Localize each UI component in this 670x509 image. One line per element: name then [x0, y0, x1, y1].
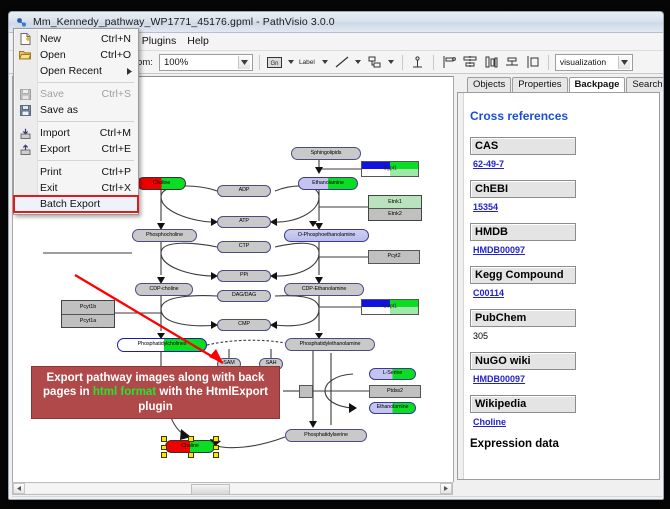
chevron-down-icon: [618, 56, 630, 69]
side-panel-tabs: Objects Properties Backpage Search Legen…: [457, 76, 660, 92]
gene-box-etnk[interactable]: Etnk1 Etnk2: [368, 195, 422, 221]
menu-item-import[interactable]: Import Ctrl+M: [14, 125, 138, 141]
export-icon: [14, 144, 36, 155]
gene-box-cept1-label: Cept1: [362, 304, 418, 309]
xref-link-chebi[interactable]: 15354: [473, 202, 498, 212]
align-middle-icon[interactable]: [482, 53, 500, 71]
node-atp[interactable]: ATP: [217, 216, 271, 228]
annotation-callout: Export pathway images along with back pa…: [31, 366, 280, 419]
menu-item-new-shortcut: Ctrl+N: [101, 33, 138, 45]
side-panel: Objects Properties Backpage Search Legen…: [457, 76, 660, 480]
svg-text:Gn: Gn: [271, 61, 279, 67]
gene-box-pcyt2[interactable]: Pcyt2: [368, 250, 420, 264]
tab-backpage[interactable]: Backpage: [569, 77, 626, 93]
gene-box-pemt[interactable]: [299, 385, 313, 398]
xref-source-pubchem: PubChem: [470, 309, 576, 327]
node-phosphatidylserine[interactable]: Phosphatidylserine: [285, 429, 367, 442]
menu-separator: [38, 82, 134, 83]
menu-item-open-label: Open: [36, 49, 100, 61]
backpage-scrollbar[interactable]: [458, 93, 464, 479]
xref-link-wikipedia[interactable]: Choline: [473, 417, 506, 427]
menu-item-exit-label: Exit: [36, 182, 102, 194]
selection-handle[interactable]: [161, 436, 166, 441]
xref-source-kegg: Kegg Compound: [470, 266, 576, 284]
order-icon[interactable]: [524, 53, 542, 71]
scroll-left-icon[interactable]: [13, 483, 25, 494]
menu-separator: [38, 121, 134, 122]
menu-item-open-recent[interactable]: Open Recent: [14, 63, 138, 79]
xref-value-nugo: HMDB00097: [473, 374, 649, 384]
callout-text-highlight: html format: [93, 386, 156, 398]
selection-handle[interactable]: [213, 452, 218, 457]
line-tool-icon[interactable]: [333, 53, 351, 71]
save-as-icon: [14, 105, 36, 116]
label-tool-text[interactable]: Label: [299, 59, 315, 66]
menu-item-open[interactable]: Open Ctrl+O: [14, 47, 138, 63]
pathvisio-icon: [15, 16, 28, 29]
node-phosphocholine[interactable]: Phosphocholine: [132, 229, 197, 242]
stack-icon[interactable]: [503, 53, 521, 71]
selection-handle[interactable]: [188, 436, 193, 441]
menu-item-new-label: New: [36, 33, 101, 45]
desktop-background: Mm_Kennedy_pathway_WP1771_45176.gpml - P…: [0, 0, 670, 509]
menu-item-exit-shortcut: Ctrl+X: [102, 182, 138, 194]
menu-item-save-as-label: Save as: [36, 104, 131, 116]
node-choline-bottom-selected[interactable]: Choline: [165, 440, 215, 453]
node-cdp-ethanolamine[interactable]: CDP-Ethanolamine: [284, 283, 364, 296]
menu-item-import-label: Import: [36, 127, 100, 139]
menu-item-export[interactable]: Export Ctrl+E: [14, 141, 138, 157]
menu-item-exit[interactable]: Exit Ctrl+X: [14, 180, 138, 196]
menu-item-import-shortcut: Ctrl+M: [100, 127, 138, 139]
chevron-down-icon: [238, 56, 250, 69]
menu-item-new[interactable]: New Ctrl+N: [14, 31, 138, 47]
xref-link-hmdb[interactable]: HMDB00097: [473, 245, 525, 255]
xref-value-hmdb: HMDB00097: [473, 245, 649, 255]
shape-tool-icon[interactable]: [366, 53, 384, 71]
gene-box-sgpl1-label: Sgpl1: [362, 166, 418, 171]
gene-box-etnk2-label: Etnk2: [369, 209, 421, 221]
xref-link-nugo[interactable]: HMDB00097: [473, 374, 525, 384]
node-sphingolipids[interactable]: Sphingolipids: [291, 147, 361, 160]
selection-handle[interactable]: [213, 445, 218, 450]
node-o-phosphoethanolamine[interactable]: O-Phosphoethanolamine: [284, 229, 369, 242]
menu-item-print[interactable]: Print Ctrl+P: [14, 164, 138, 180]
xref-source-nugo: NuGO wiki: [470, 352, 576, 370]
zoom-value: 100%: [164, 57, 188, 68]
selection-handle[interactable]: [213, 436, 218, 441]
datanode-dropdown-icon[interactable]: [287, 53, 296, 71]
menu-item-save-label: Save: [36, 88, 102, 100]
xref-link-cas[interactable]: 62-49-7: [473, 159, 504, 169]
xref-value-pubchem: 305: [473, 331, 649, 341]
menu-help[interactable]: Help: [182, 34, 214, 49]
status-area: | Gene database: ...m_Derby_20120602.bri…: [9, 482, 663, 500]
anchor-tool-icon[interactable]: [409, 53, 427, 71]
node-l-serine[interactable]: L-Serine: [369, 368, 416, 380]
gene-box-sgpl1[interactable]: Sgpl1: [361, 161, 419, 177]
folder-open-icon: [14, 50, 36, 60]
new-file-icon: [14, 33, 36, 45]
menu-item-open-recent-label: Open Recent: [36, 65, 138, 77]
selection-handle[interactable]: [161, 445, 166, 450]
xref-value-wikipedia: Choline: [473, 417, 649, 427]
save-icon: [14, 89, 36, 100]
menu-item-export-label: Export: [36, 143, 102, 155]
application-window: Mm_Kennedy_pathway_WP1771_45176.gpml - P…: [8, 11, 664, 500]
gene-box-cept1[interactable]: Cept1: [361, 299, 419, 315]
xref-source-cas: CAS: [470, 137, 576, 155]
gene-box-ptdss2[interactable]: Ptdss2: [369, 385, 421, 398]
expression-data-heading: Expression data: [470, 438, 649, 450]
selection-handle[interactable]: [161, 452, 166, 457]
scroll-right-icon[interactable]: [440, 483, 452, 494]
shape-dropdown-icon[interactable]: [387, 53, 396, 71]
node-ethanolamine-low[interactable]: Ethanolamine: [369, 402, 416, 414]
xref-source-chebi: ChEBI: [470, 180, 576, 198]
xref-value-kegg: C00114: [473, 288, 649, 298]
node-choline-top[interactable]: Choline: [137, 177, 186, 190]
cross-references-heading: Cross references: [470, 109, 649, 123]
file-dropdown-menu[interactable]: New Ctrl+N Open Ctrl+O Open Recent Save …: [13, 28, 139, 215]
xref-value-chebi: 15354: [473, 202, 649, 212]
visualization-combo[interactable]: visualization: [555, 54, 633, 71]
node-phosphatidylethanolamine[interactable]: Phosphatidylethanolamine: [285, 338, 375, 351]
status-bar: | Gene database: ...m_Derby_20120602.bri…: [12, 496, 662, 500]
menu-item-save: Save Ctrl+S: [14, 86, 138, 102]
import-icon: [14, 128, 36, 139]
tab-properties[interactable]: Properties: [512, 77, 567, 92]
xref-source-hmdb: HMDB: [470, 223, 576, 241]
menu-separator: [38, 160, 134, 161]
menu-item-save-as[interactable]: Save as: [14, 102, 138, 118]
menu-item-export-shortcut: Ctrl+E: [102, 143, 138, 155]
align-center-icon[interactable]: [461, 53, 479, 71]
menu-item-print-shortcut: Ctrl+P: [102, 166, 138, 178]
datanode-tool-icon[interactable]: Gn: [266, 53, 284, 71]
node-adp[interactable]: ADP: [217, 185, 271, 197]
scroll-thumb[interactable]: [191, 484, 230, 495]
menu-item-batch-export[interactable]: Batch Export: [14, 196, 138, 212]
window-title: Mm_Kennedy_pathway_WP1771_45176.gpml - P…: [33, 16, 335, 28]
canvas-horizontal-scrollbar[interactable]: [12, 482, 453, 495]
menu-plugins[interactable]: Plugins: [137, 34, 181, 49]
gene-box-etnk1-label: Etnk1: [369, 196, 421, 209]
tab-search[interactable]: Search: [626, 77, 664, 92]
menu-item-batch-export-label: Batch Export: [36, 198, 138, 210]
xref-link-kegg[interactable]: C00114: [473, 288, 504, 298]
label-dropdown-icon[interactable]: [321, 53, 330, 71]
backpage-content: Cross references CAS 62-49-7 ChEBI 15354…: [457, 92, 660, 480]
visualization-value: visualization: [560, 57, 606, 67]
menu-item-save-shortcut: Ctrl+S: [102, 88, 138, 100]
tab-objects[interactable]: Objects: [467, 77, 511, 92]
selection-handle[interactable]: [188, 452, 193, 457]
callout-text-after: with the HtmlExport plugin: [138, 386, 268, 412]
menu-item-print-label: Print: [36, 166, 102, 178]
node-ctp[interactable]: CTP: [217, 241, 271, 253]
line-dropdown-icon[interactable]: [354, 53, 363, 71]
xref-source-wikipedia: Wikipedia: [470, 395, 576, 413]
scroll-track[interactable]: [25, 484, 440, 493]
xref-value-cas: 62-49-7: [473, 159, 649, 169]
node-ethanolamine-top[interactable]: Ethanolamine: [298, 177, 358, 190]
annotation-arrow: [73, 273, 253, 373]
menu-item-open-shortcut: Ctrl+O: [100, 49, 138, 61]
align-left-icon[interactable]: [440, 53, 458, 71]
zoom-combo[interactable]: 100%: [159, 54, 253, 71]
